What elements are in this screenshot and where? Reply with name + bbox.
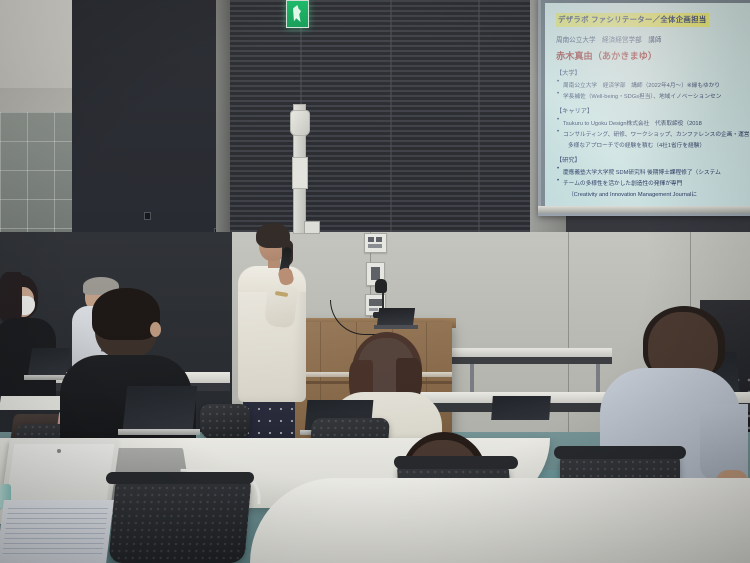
slide-bullet: コンサルティング、研修、ワークショップ、カンファレンスの企画・運営 (556, 129, 750, 138)
attendee-ear (150, 322, 161, 337)
photo-scene: デザラボ ファシリテーター／全体企画担当 周南公立大学 経済経営学部 講師 赤木… (0, 0, 750, 563)
av-control-panel[interactable] (364, 233, 387, 253)
wall-junction-box (292, 157, 308, 189)
laptop[interactable] (28, 348, 70, 376)
slide-bullet: 周南公立大学 経済学部 講師（2022年4月〜）※縁もゆかり (556, 80, 750, 89)
slide-affiliation: 周南公立大学 経済経営学部 講師 (556, 34, 750, 44)
webcam-icon (57, 449, 61, 453)
projection-screen: デザラボ ファシリテーター／全体企画担当 周南公立大学 経済経営学部 講師 赤木… (538, 0, 750, 216)
projected-slide: デザラボ ファシリテーター／全体企画担当 周南公立大学 経済経営学部 講師 赤木… (545, 3, 750, 207)
attendee-sleeve (700, 404, 748, 480)
wall-speaker-icon (290, 110, 310, 136)
confidence-monitor (377, 308, 415, 326)
papers (0, 396, 63, 410)
slide-bullet-continuation: 多様なアプローチでの経験を積む（4社1省庁を経験） (556, 140, 750, 149)
wall-seam (478, 0, 480, 232)
table (452, 348, 612, 357)
slide-section-label: 【キャリア】 (556, 106, 750, 115)
upper-left-wall-band-shadow (0, 88, 75, 114)
chair-armrest[interactable] (105, 472, 254, 484)
upper-left-wall-band (0, 0, 75, 100)
panel-fixture-dot (144, 212, 151, 220)
laptop[interactable] (491, 396, 551, 420)
microphone-head-icon (375, 279, 387, 293)
slide-section-label: 【大学】 (556, 68, 750, 77)
slide-bullet-continuation: （Creativity and Innovation Management Jo… (556, 189, 750, 198)
slide-section-label: 【研究】 (556, 155, 750, 164)
wall-seam (390, 0, 392, 232)
table-edge (452, 357, 612, 364)
table (250, 478, 750, 563)
slide-presenter-name: 赤木真由（あかきまゆ） (556, 48, 750, 62)
wall-slat-texture (210, 0, 555, 232)
chair[interactable] (200, 404, 250, 440)
laptop-base[interactable] (118, 429, 200, 435)
exit-sign-icon (286, 0, 309, 28)
monitor-stand (374, 325, 418, 329)
wall-outlet-plate (304, 221, 320, 234)
slide-header: デザラボ ファシリテーター／全体企画担当 (556, 13, 709, 27)
slide-bullet: 慶應義塾大学大学院 SDM研究科 後期博士課程修了（システム (556, 167, 750, 176)
speaker-arm (264, 284, 298, 329)
chair[interactable] (108, 478, 251, 563)
dark-wall-panel (72, 0, 220, 232)
attendee-hair-front (0, 272, 22, 322)
wall-column-left (216, 0, 230, 232)
slide-bullet: 学長補佐（Well-being・SDGs担当）、地域イノベーションセン (556, 91, 750, 100)
chair-armrest[interactable] (394, 456, 519, 469)
slide-bullet: チームの多様性を活かした創造性の発揮が専門 (556, 178, 750, 187)
chair-armrest[interactable] (554, 446, 686, 459)
spreadsheet-grid[interactable] (2, 508, 108, 558)
screen-bottom-rail (538, 206, 750, 213)
laptop[interactable] (123, 386, 198, 430)
slide-content: デザラボ ファシリテーター／全体企画担当 周南公立大学 経済経営学部 講師 赤木… (556, 9, 750, 198)
slide-bullet: Tsukuru to Ugoku Design株式会社 代表取締役（2018 (556, 118, 750, 127)
